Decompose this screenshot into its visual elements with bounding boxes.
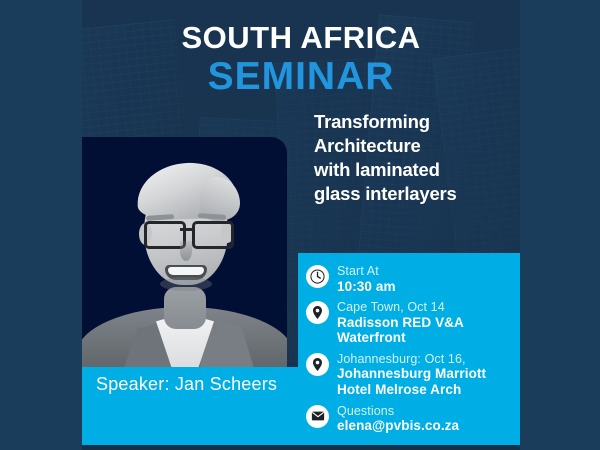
detail-text: Cape Town, Oct 14 Radisson RED V&A Water… (337, 299, 464, 346)
detail-text: Start At 10:30 am (337, 263, 396, 294)
poster-title: SOUTH AFRICA SEMINAR (82, 22, 520, 96)
detail-value: elena@pvbis.co.za (337, 418, 459, 434)
speaker-portrait-image (82, 137, 287, 367)
detail-value: 10:30 am (337, 279, 396, 295)
title-line-seminar: SEMINAR (82, 57, 520, 96)
envelope-icon (306, 405, 329, 428)
speaker-photo-card (82, 137, 287, 367)
detail-value: Johannesburg Marriott (337, 366, 486, 382)
detail-value: Hotel Melrose Arch (337, 382, 486, 398)
detail-value: Waterfront (337, 330, 464, 346)
location-pin-icon (306, 301, 329, 324)
headline-line: Architecture (314, 134, 520, 158)
seminar-flyer: SOUTH AFRICA SEMINAR Transforming Archit… (82, 0, 520, 445)
glasses-lens-right (192, 221, 234, 249)
clock-icon (306, 265, 329, 288)
detail-text: Johannesburg: Oct 16, Johannesburg Marri… (337, 351, 486, 398)
detail-row-johannesburg: Johannesburg: Oct 16, Johannesburg Marri… (298, 351, 520, 403)
detail-label: Start At (337, 264, 396, 279)
poster-frame: SOUTH AFRICA SEMINAR Transforming Archit… (0, 0, 600, 450)
headline-text: Transforming Architecture with laminated… (314, 110, 520, 205)
title-line-country: SOUTH AFRICA (82, 22, 520, 53)
detail-label: Cape Town, Oct 14 (337, 300, 464, 315)
event-details-panel: Start At 10:30 am Cape Town, Oct 14 Radi… (298, 253, 520, 445)
glasses-bridge (180, 228, 192, 231)
headline-line: Transforming (314, 110, 520, 134)
headline-line: glass interlayers (314, 182, 520, 206)
detail-row-questions: Questions elena@pvbis.co.za (298, 403, 520, 439)
speaker-name-label: Speaker: Jan Scheers (96, 374, 277, 395)
location-pin-icon (306, 353, 329, 376)
bottom-strip (82, 445, 520, 450)
detail-value: Radisson RED V&A (337, 315, 464, 331)
headline-line: with laminated (314, 158, 520, 182)
detail-label: Questions (337, 404, 459, 419)
detail-label: Johannesburg: Oct 16, (337, 352, 486, 367)
portrait-chin-shadow (160, 277, 212, 291)
portrait-nose (180, 241, 192, 261)
portrait-neck (164, 287, 206, 329)
portrait-teeth (168, 267, 204, 275)
detail-text: Questions elena@pvbis.co.za (337, 403, 459, 434)
detail-row-cape-town: Cape Town, Oct 14 Radisson RED V&A Water… (298, 299, 520, 351)
detail-row-start-time: Start At 10:30 am (298, 263, 520, 299)
